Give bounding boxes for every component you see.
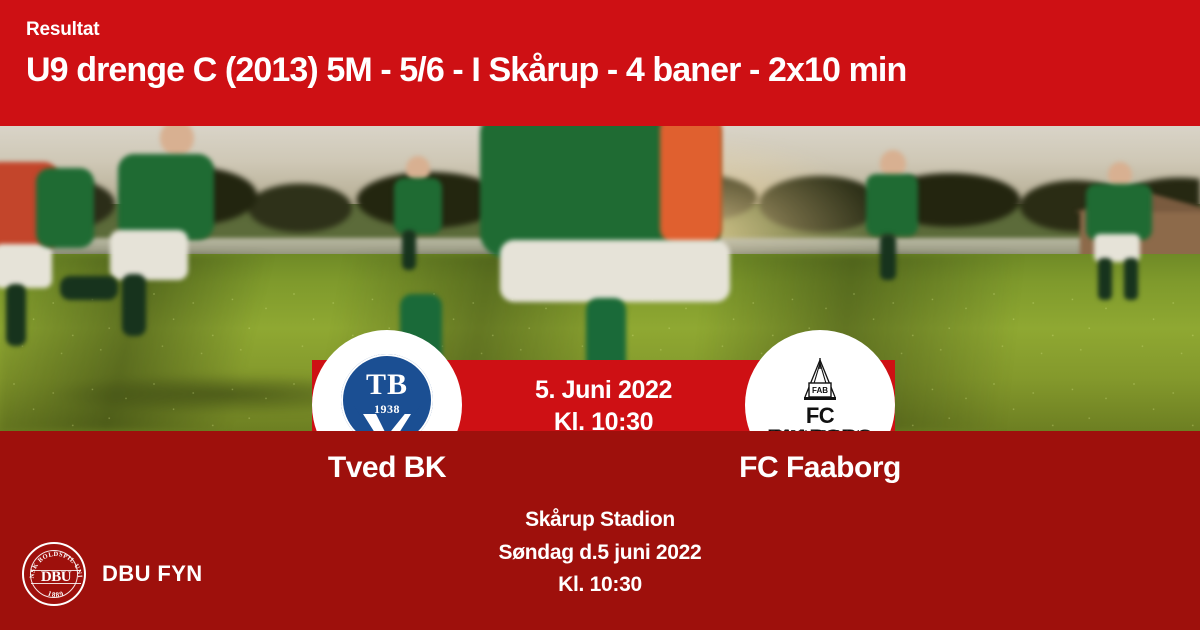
photo-player-silhouette	[6, 284, 26, 346]
home-team-name: Tved BK	[237, 451, 537, 485]
header-eyebrow-label: Resultat	[26, 20, 1200, 41]
faaborg-tower-icon: FAB	[793, 357, 847, 405]
ribbon-time: Kl. 10:30	[554, 406, 653, 432]
venue-name: Skårup Stadion	[0, 504, 1200, 537]
svg-text:FAB: FAB	[812, 386, 828, 395]
photo-player-silhouette	[660, 126, 722, 244]
fc-faaborg-logo-icon: FAB FC FAABORG FODBOLD FOR ALLE	[754, 357, 886, 431]
dbu-seal-icon: DANSK BOLDSPIL UNION 1889 DBU	[22, 542, 86, 606]
ribbon-date: 5. Juni 2022	[535, 374, 672, 406]
dbu-seal-initials: DBU	[34, 568, 78, 586]
dbu-fyn-label: DBU FYN	[102, 561, 203, 587]
match-photo: 5. Juni 2022 Kl. 10:30 TB 1938 FAB	[0, 126, 1200, 431]
match-result-poster: Resultat U9 drenge C (2013) 5M - 5/6 - I…	[0, 0, 1200, 630]
tved-bk-crest-icon: TB 1938	[341, 354, 433, 431]
photo-player-silhouette	[394, 178, 442, 234]
crest-founding-year: 1938	[341, 402, 433, 417]
photo-player-silhouette	[110, 230, 188, 280]
photo-player-silhouette	[60, 276, 118, 300]
photo-player-silhouette	[1124, 258, 1138, 300]
fc-faaborg-wordmark: FC FAABORG	[754, 405, 886, 431]
photo-player-silhouette	[122, 274, 146, 336]
crest-initials: TB	[341, 370, 433, 400]
photo-player-silhouette	[1098, 258, 1112, 300]
dbu-fyn-branding: DANSK BOLDSPIL UNION 1889 DBU DBU FYN	[22, 542, 203, 606]
away-team-name: FC Faaborg	[670, 451, 970, 485]
photo-player-silhouette	[0, 244, 52, 288]
page-title: U9 drenge C (2013) 5M - 5/6 - I Skårup -…	[26, 51, 1200, 90]
svg-text:1889: 1889	[47, 589, 66, 599]
photo-player-silhouette	[118, 154, 214, 240]
poster-header: Resultat U9 drenge C (2013) 5M - 5/6 - I…	[0, 0, 1200, 126]
photo-player-silhouette	[402, 230, 416, 270]
photo-player-silhouette	[866, 174, 918, 236]
photo-player-silhouette	[500, 240, 730, 302]
photo-player-silhouette	[36, 168, 94, 248]
photo-player-silhouette	[1086, 184, 1152, 240]
photo-player-silhouette	[880, 234, 896, 280]
